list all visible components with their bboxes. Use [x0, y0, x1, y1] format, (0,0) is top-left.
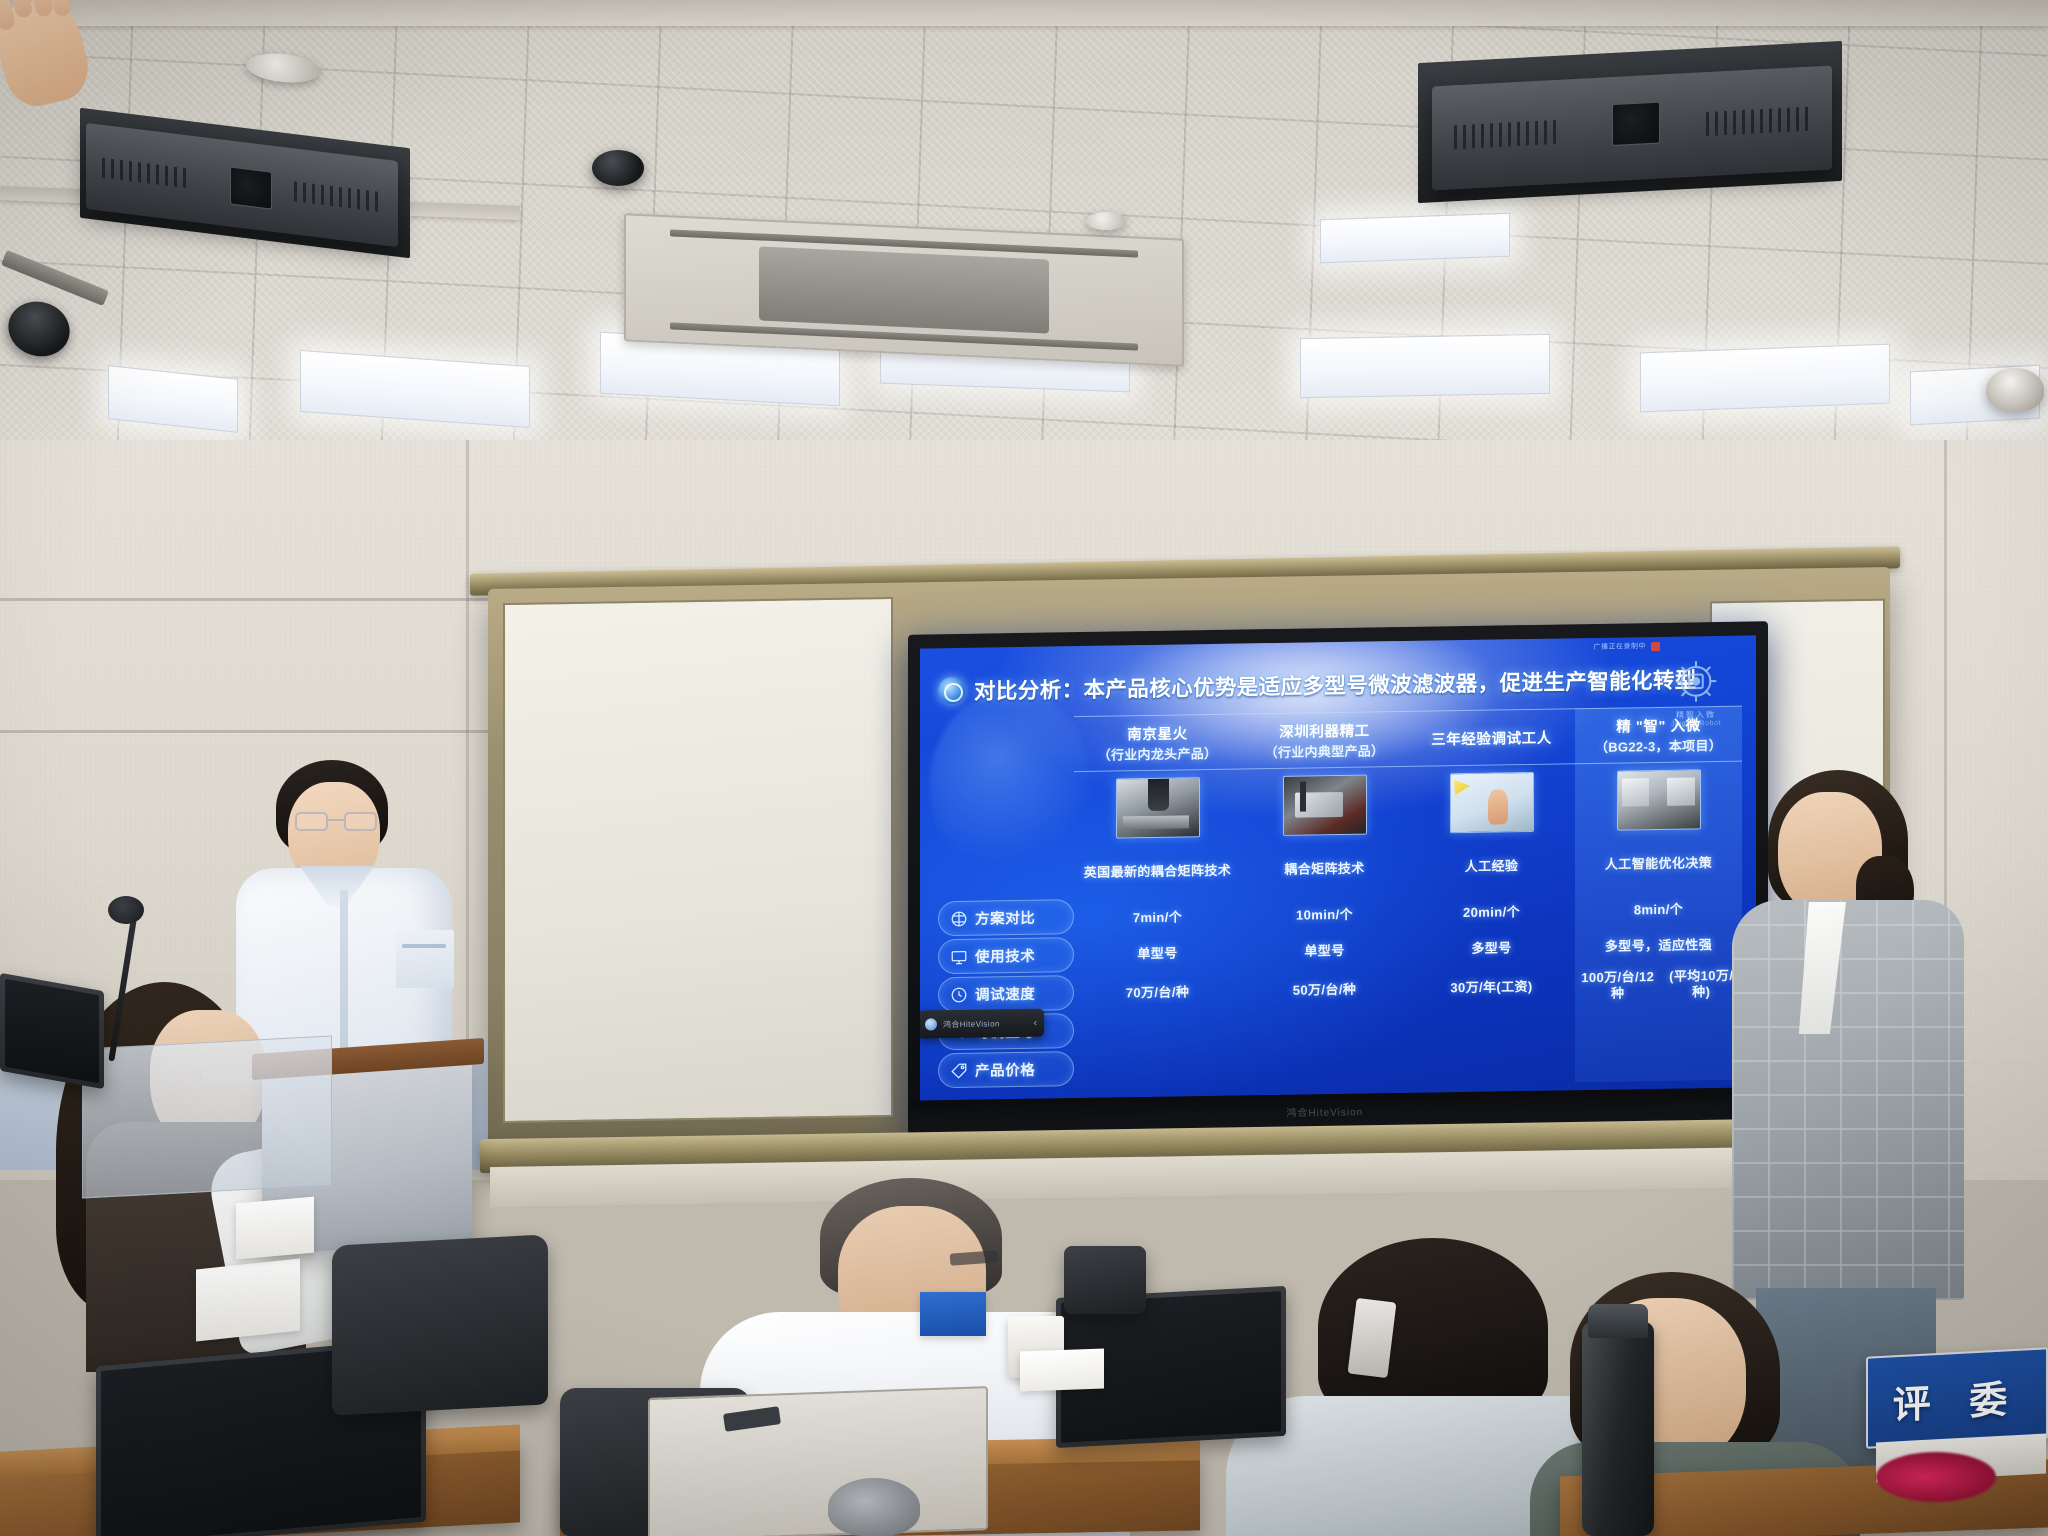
- cell-price: 100万/台/12种(平均10万/种): [1575, 963, 1742, 1008]
- nameplate-body: 评 委: [1866, 1347, 2048, 1449]
- column-title: 三年经验调试工人: [1431, 726, 1552, 749]
- standing-woman-plaid-pattern: [1732, 900, 1964, 1300]
- cell-model: 单型号: [1241, 932, 1408, 971]
- column-title: 南京星火: [1127, 722, 1187, 744]
- screen-floating-toolbar[interactable]: 鸿合HiteVision ‹: [920, 1009, 1044, 1039]
- projector-vent: [1454, 119, 1558, 149]
- glasses-icon: [292, 812, 380, 832]
- ceiling-light-panel: [1320, 213, 1510, 264]
- row-label-technology[interactable]: 使用技术: [938, 937, 1074, 974]
- row-label-speed[interactable]: 调试速度: [938, 975, 1074, 1012]
- clock-icon: [950, 985, 968, 1003]
- cell-speed: 7min/个: [1074, 899, 1241, 938]
- wall-display[interactable]: 广播正在录制中 对比分析：本产品核心优势是适应多型号微波滤波器，促进生产智能化转…: [908, 621, 1768, 1135]
- cell-speed: 20min/个: [1408, 893, 1575, 932]
- row-label-text: 产品价格: [975, 1059, 1035, 1081]
- blue-card: [920, 1292, 986, 1336]
- paper-sheet: [1020, 1349, 1104, 1392]
- cell-technology: 人工经验: [1408, 837, 1575, 896]
- bottle-cap: [1588, 1304, 1648, 1338]
- cell-price: 30万/年(工资): [1408, 965, 1575, 1010]
- cell-model: 单型号: [1074, 935, 1241, 974]
- comparison-table: 方案对比 使用技术: [938, 706, 1742, 1093]
- column-our-project: 精 "智" 入微 （BG22-3，本项目） 人工智能优化决策 8min/个 多型…: [1575, 706, 1742, 1083]
- ceiling-light-panel: [1300, 334, 1550, 398]
- gear-robot-logo-icon: [1669, 653, 1723, 708]
- row-label-text: 调试速度: [975, 983, 1035, 1005]
- column-thumbnail: [1450, 772, 1534, 833]
- laptop-screen[interactable]: [5, 979, 99, 1084]
- column-subtitle: （行业内典型产品）: [1265, 740, 1385, 761]
- column-thumbnail: [1617, 769, 1701, 830]
- presenter-shirt-pocket: [396, 930, 454, 988]
- projector-vent: [102, 157, 190, 188]
- slide-title: 对比分析：本产品核心优势是适应多型号微波滤波器，促进生产智能化转型: [974, 663, 1697, 705]
- column-title: 精 "智" 入微: [1616, 714, 1701, 736]
- cell-price: 70万/台/种: [1074, 971, 1241, 1016]
- questioner-woman: [0, 0, 84, 104]
- chevron-left-icon[interactable]: ‹: [1034, 1017, 1037, 1028]
- row-label-text: 方案对比: [975, 907, 1035, 929]
- compare-icon: [950, 909, 968, 927]
- cell-model: 多型号，适应性强: [1575, 927, 1742, 966]
- display-screen[interactable]: 广播正在录制中 对比分析：本产品核心优势是适应多型号微波滤波器，促进生产智能化转…: [920, 635, 1756, 1100]
- column-header: 深圳利器精工 （行业内典型产品）: [1241, 711, 1408, 770]
- white-binder: [648, 1386, 988, 1536]
- ceiling-light-panel: [1640, 344, 1890, 413]
- monitor-icon: [950, 947, 968, 965]
- app-dot-icon[interactable]: [925, 1018, 937, 1030]
- ceiling-projector-right: [1432, 66, 1832, 191]
- cell-technology: 耦合矩阵技术: [1241, 840, 1408, 899]
- projector-lens-icon: [1612, 102, 1660, 147]
- column-title: 深圳利器精工: [1279, 720, 1370, 742]
- ceiling-dome-camera-icon: [1986, 368, 2044, 412]
- nameplate-text: 评 委: [1893, 1367, 2022, 1429]
- microphone-icon: [108, 896, 144, 924]
- column-thumbnail: [1116, 777, 1200, 838]
- raised-hand: [0, 0, 95, 113]
- ceiling-speaker-icon: [592, 150, 644, 186]
- cell-technology: 英国最新的耦合矩阵技术: [1074, 843, 1241, 902]
- cell-price: 50万/台/种: [1241, 968, 1408, 1013]
- cell-speed: 10min/个: [1241, 896, 1408, 935]
- laptop-podium[interactable]: [0, 973, 104, 1089]
- price-tag-icon: [950, 1061, 968, 1079]
- cell-technology: 人工智能优化决策: [1575, 835, 1742, 894]
- ceiling-beam: [0, 0, 2048, 26]
- fingerprint-circle-icon: [938, 676, 965, 703]
- paper-sheet: [196, 1259, 300, 1342]
- whiteboard-panel-left: [503, 597, 893, 1123]
- smoke-detector-icon: [1086, 212, 1126, 230]
- computer-mouse[interactable]: [828, 1478, 920, 1536]
- air-conditioner-vent: [624, 213, 1184, 366]
- display-brand-text: 鸿合HiteVision: [1286, 1103, 1363, 1119]
- row-label-text: 使用技术: [975, 945, 1035, 967]
- column-header: 精 "智" 入微 （BG22-3，本项目）: [1575, 706, 1742, 765]
- comparison-columns: 南京星火 （行业内龙头产品） 英国最新的耦合矩阵技术 7min/个 单型号 70…: [1074, 706, 1742, 1090]
- column-experienced-worker: 三年经验调试工人 人工经验 20min/个 多型号 30万/年(工资): [1408, 708, 1575, 1085]
- toolbar-label: 鸿合HiteVision: [943, 1017, 1028, 1029]
- ceiling: [0, 0, 2048, 470]
- podium-glass-panel: [82, 1035, 332, 1198]
- column-subtitle: （BG22-3，本项目）: [1595, 735, 1722, 756]
- column-header: 三年经验调试工人: [1408, 708, 1575, 767]
- projector-lens-icon: [230, 166, 272, 209]
- column-thumbnail: [1283, 775, 1367, 836]
- cell-speed: 8min/个: [1575, 891, 1742, 930]
- small-pouch: [1064, 1246, 1146, 1314]
- column-subtitle: （行业内龙头产品）: [1098, 743, 1218, 764]
- judge-nameplate: 评 委: [1866, 1347, 2048, 1449]
- column-nanjing-xinghuo: 南京星火 （行业内龙头产品） 英国最新的耦合矩阵技术 7min/个 单型号 70…: [1074, 714, 1241, 1091]
- column-shenzhen-liqi: 深圳利器精工 （行业内典型产品） 耦合矩阵技术 10min/个 单型号 50万/…: [1241, 711, 1408, 1088]
- slide-title-row: 对比分析：本产品核心优势是适应多型号微波滤波器，促进生产智能化转型: [938, 661, 1626, 708]
- wall-seam: [0, 598, 520, 601]
- osd-text: 广播正在录制中: [1594, 641, 1647, 652]
- projector-vent: [1706, 106, 1810, 136]
- water-bottle: [1582, 1322, 1654, 1536]
- backpack-left: [332, 1234, 548, 1415]
- projector-vent: [294, 181, 382, 212]
- row-label-scheme-compare[interactable]: 方案对比: [938, 899, 1074, 936]
- ac-vent-center: [759, 246, 1048, 334]
- row-label-price[interactable]: 产品价格: [938, 1051, 1074, 1088]
- wall-seam: [0, 730, 520, 733]
- column-header: 南京星火 （行业内龙头产品）: [1074, 714, 1241, 773]
- conference-room-photo: 广播正在录制中 对比分析：本产品核心优势是适应多型号微波滤波器，促进生产智能化转…: [0, 0, 2048, 1536]
- paper-sheet: [236, 1197, 314, 1260]
- flower-decoration: [1876, 1452, 1996, 1502]
- cell-model: 多型号: [1408, 929, 1575, 968]
